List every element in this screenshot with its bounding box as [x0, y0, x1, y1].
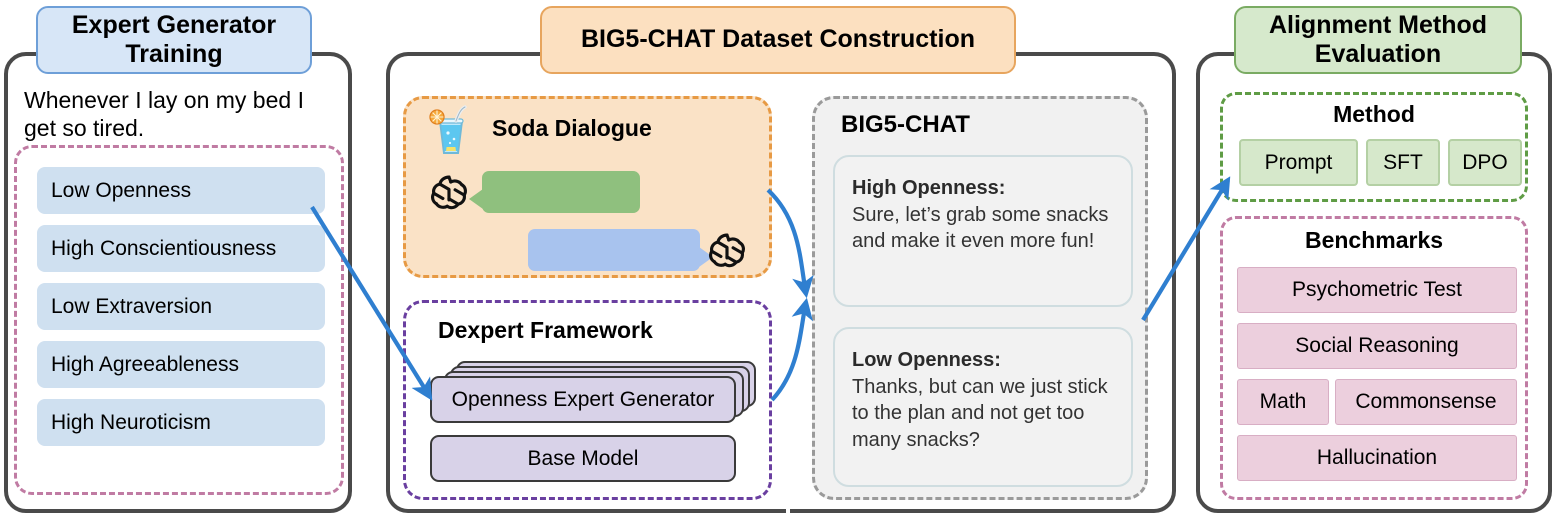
soda-dialogue-title: Soda Dialogue: [492, 115, 652, 142]
openai-logo-icon: [428, 171, 470, 213]
method-group-title: Method: [1223, 101, 1525, 128]
trait-list-group: Low Openness High Conscientiousness Low …: [14, 145, 344, 495]
chat-card-low-openness: Low Openness: Thanks, but can we just st…: [833, 327, 1133, 487]
method-chip-prompt[interactable]: Prompt: [1239, 139, 1358, 186]
trait-chip-high-agreeableness[interactable]: High Agreeableness: [37, 341, 325, 388]
benchmarks-group-title: Benchmarks: [1223, 227, 1525, 254]
seed-utterance-text: Whenever I lay on my bed I get so tired.: [24, 86, 342, 142]
chat-card-high-openness: High Openness: Sure, let’s grab some sna…: [833, 155, 1133, 307]
dexpert-framework-title: Dexpert Framework: [438, 317, 653, 344]
trait-chip-low-extraversion[interactable]: Low Extraversion: [37, 283, 325, 330]
dialogue-bubble-green: [482, 171, 640, 213]
chat-card-label: Low Openness:: [852, 347, 1114, 374]
chat-card-text: Sure, let’s grab some snacks and make it…: [852, 204, 1108, 253]
big5-chat-title: BIG5-CHAT: [841, 111, 970, 139]
benchmark-chip-psychometric-test[interactable]: Psychometric Test: [1237, 267, 1517, 313]
openness-expert-generator-card[interactable]: Openness Expert Generator: [430, 376, 736, 423]
benchmarks-group: Benchmarks Psychometric Test Social Reas…: [1220, 216, 1528, 500]
chat-card-text: Thanks, but can we just stick to the pla…: [852, 376, 1108, 451]
benchmark-chip-social-reasoning[interactable]: Social Reasoning: [1237, 323, 1517, 369]
tropical-drink-icon: [428, 105, 474, 159]
openai-logo-icon: [706, 229, 748, 271]
method-group: Method Prompt SFT DPO: [1220, 92, 1528, 202]
trait-chip-low-openness[interactable]: Low Openness: [37, 167, 325, 214]
method-chip-sft[interactable]: SFT: [1366, 139, 1440, 186]
dialogue-bubble-blue: [528, 229, 700, 271]
header-badge-alignment-method-evaluation: Alignment Method Evaluation: [1234, 6, 1522, 74]
big5-chat-group: BIG5-CHAT High Openness: Sure, let’s gra…: [812, 96, 1148, 500]
figure-canvas: Expert Generator Training BIG5-CHAT Data…: [0, 0, 1556, 517]
benchmark-chip-math[interactable]: Math: [1237, 379, 1329, 425]
header-badge-expert-generator-training: Expert Generator Training: [36, 6, 312, 74]
chat-card-label: High Openness:: [852, 175, 1114, 202]
soda-dialogue-group: Soda Dialogue: [403, 96, 772, 278]
header-badge-big5-chat-dataset-construction: BIG5-CHAT Dataset Construction: [540, 6, 1016, 74]
base-model-card[interactable]: Base Model: [430, 435, 736, 482]
benchmark-chip-hallucination[interactable]: Hallucination: [1237, 435, 1517, 481]
method-chip-dpo[interactable]: DPO: [1448, 139, 1522, 186]
benchmark-chip-commonsense[interactable]: Commonsense: [1335, 379, 1517, 425]
dexpert-framework-group: Dexpert Framework Openness Expert Genera…: [403, 300, 772, 500]
trait-chip-high-neuroticism[interactable]: High Neuroticism: [37, 399, 325, 446]
trait-chip-high-conscientiousness[interactable]: High Conscientiousness: [37, 225, 325, 272]
